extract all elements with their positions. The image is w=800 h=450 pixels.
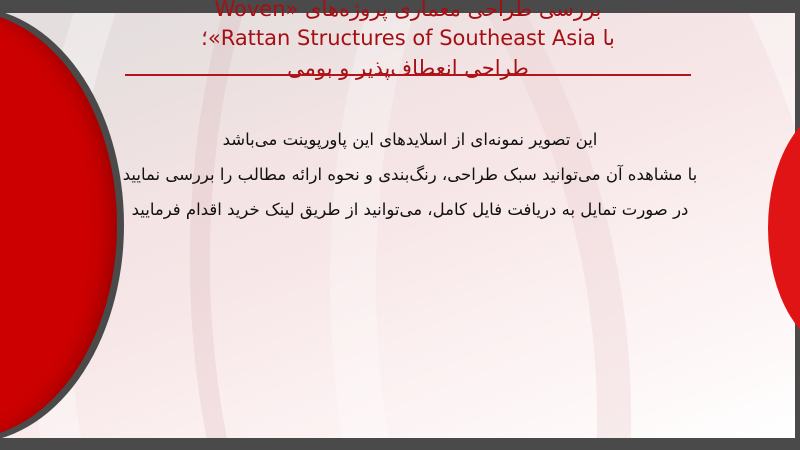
slide-title-line-2: با Rattan Structures of Southeast Asia»؛: [118, 24, 698, 53]
slide-body-line-2: با مشاهده آن می‌توانید سبک طراحی، رنگ‌بن…: [60, 157, 760, 192]
slide-body-line-3: در صورت تمایل به دریافت فایل کامل، می‌تو…: [60, 192, 760, 227]
slide-body-text: این تصویر نمونه‌ای از اسلایدهای این پاور…: [60, 122, 760, 227]
slide-title-line-3: طراحی انعطاف‌پذیر و بومی: [118, 54, 698, 83]
slide-body-line-1: این تصویر نمونه‌ای از اسلایدهای این پاور…: [60, 122, 760, 157]
slide-title: بررسی طراحی معماری پروژه‌های «Woven با R…: [118, 0, 698, 83]
bottom-frame-bar: [0, 438, 800, 450]
title-divider-rule: [125, 74, 691, 76]
slide-canvas: بررسی طراحی معماری پروژه‌های «Woven با R…: [0, 0, 800, 450]
slide-title-line-1: بررسی طراحی معماری پروژه‌های «Woven: [118, 0, 698, 24]
